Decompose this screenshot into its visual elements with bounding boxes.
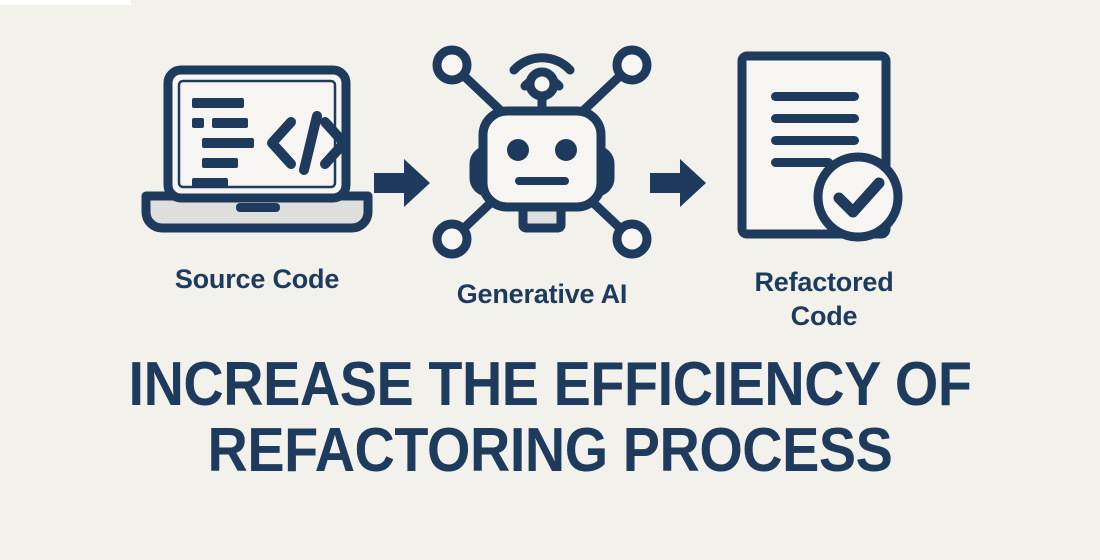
- flow-node-refactored-code: Refactored Code: [700, 48, 948, 333]
- flow-node-label-refactored-code: Refactored Code: [700, 265, 948, 333]
- ai-robot-icon: [422, 32, 662, 265]
- arrow-right-icon-2: [648, 156, 708, 215]
- headline-line-2: REFACTORING PROCESS: [55, 418, 1045, 484]
- flow-node-source-code: Source Code: [132, 60, 382, 296]
- top-edge-strip: [0, 0, 131, 5]
- infographic-canvas: Source Code: [0, 0, 1100, 560]
- flow-node-label-source-code: Source Code: [132, 262, 382, 296]
- process-flow: Source Code: [0, 24, 1100, 344]
- headline: INCREASE THE EFFICIENCY OF REFACTORING P…: [55, 352, 1045, 483]
- headline-line-1: INCREASE THE EFFICIENCY OF: [55, 352, 1045, 418]
- flow-node-label-generative-ai: Generative AI: [422, 277, 662, 311]
- document-check-icon: [700, 48, 948, 253]
- flow-node-generative-ai: Generative AI: [422, 32, 662, 311]
- laptop-code-icon: [132, 60, 382, 250]
